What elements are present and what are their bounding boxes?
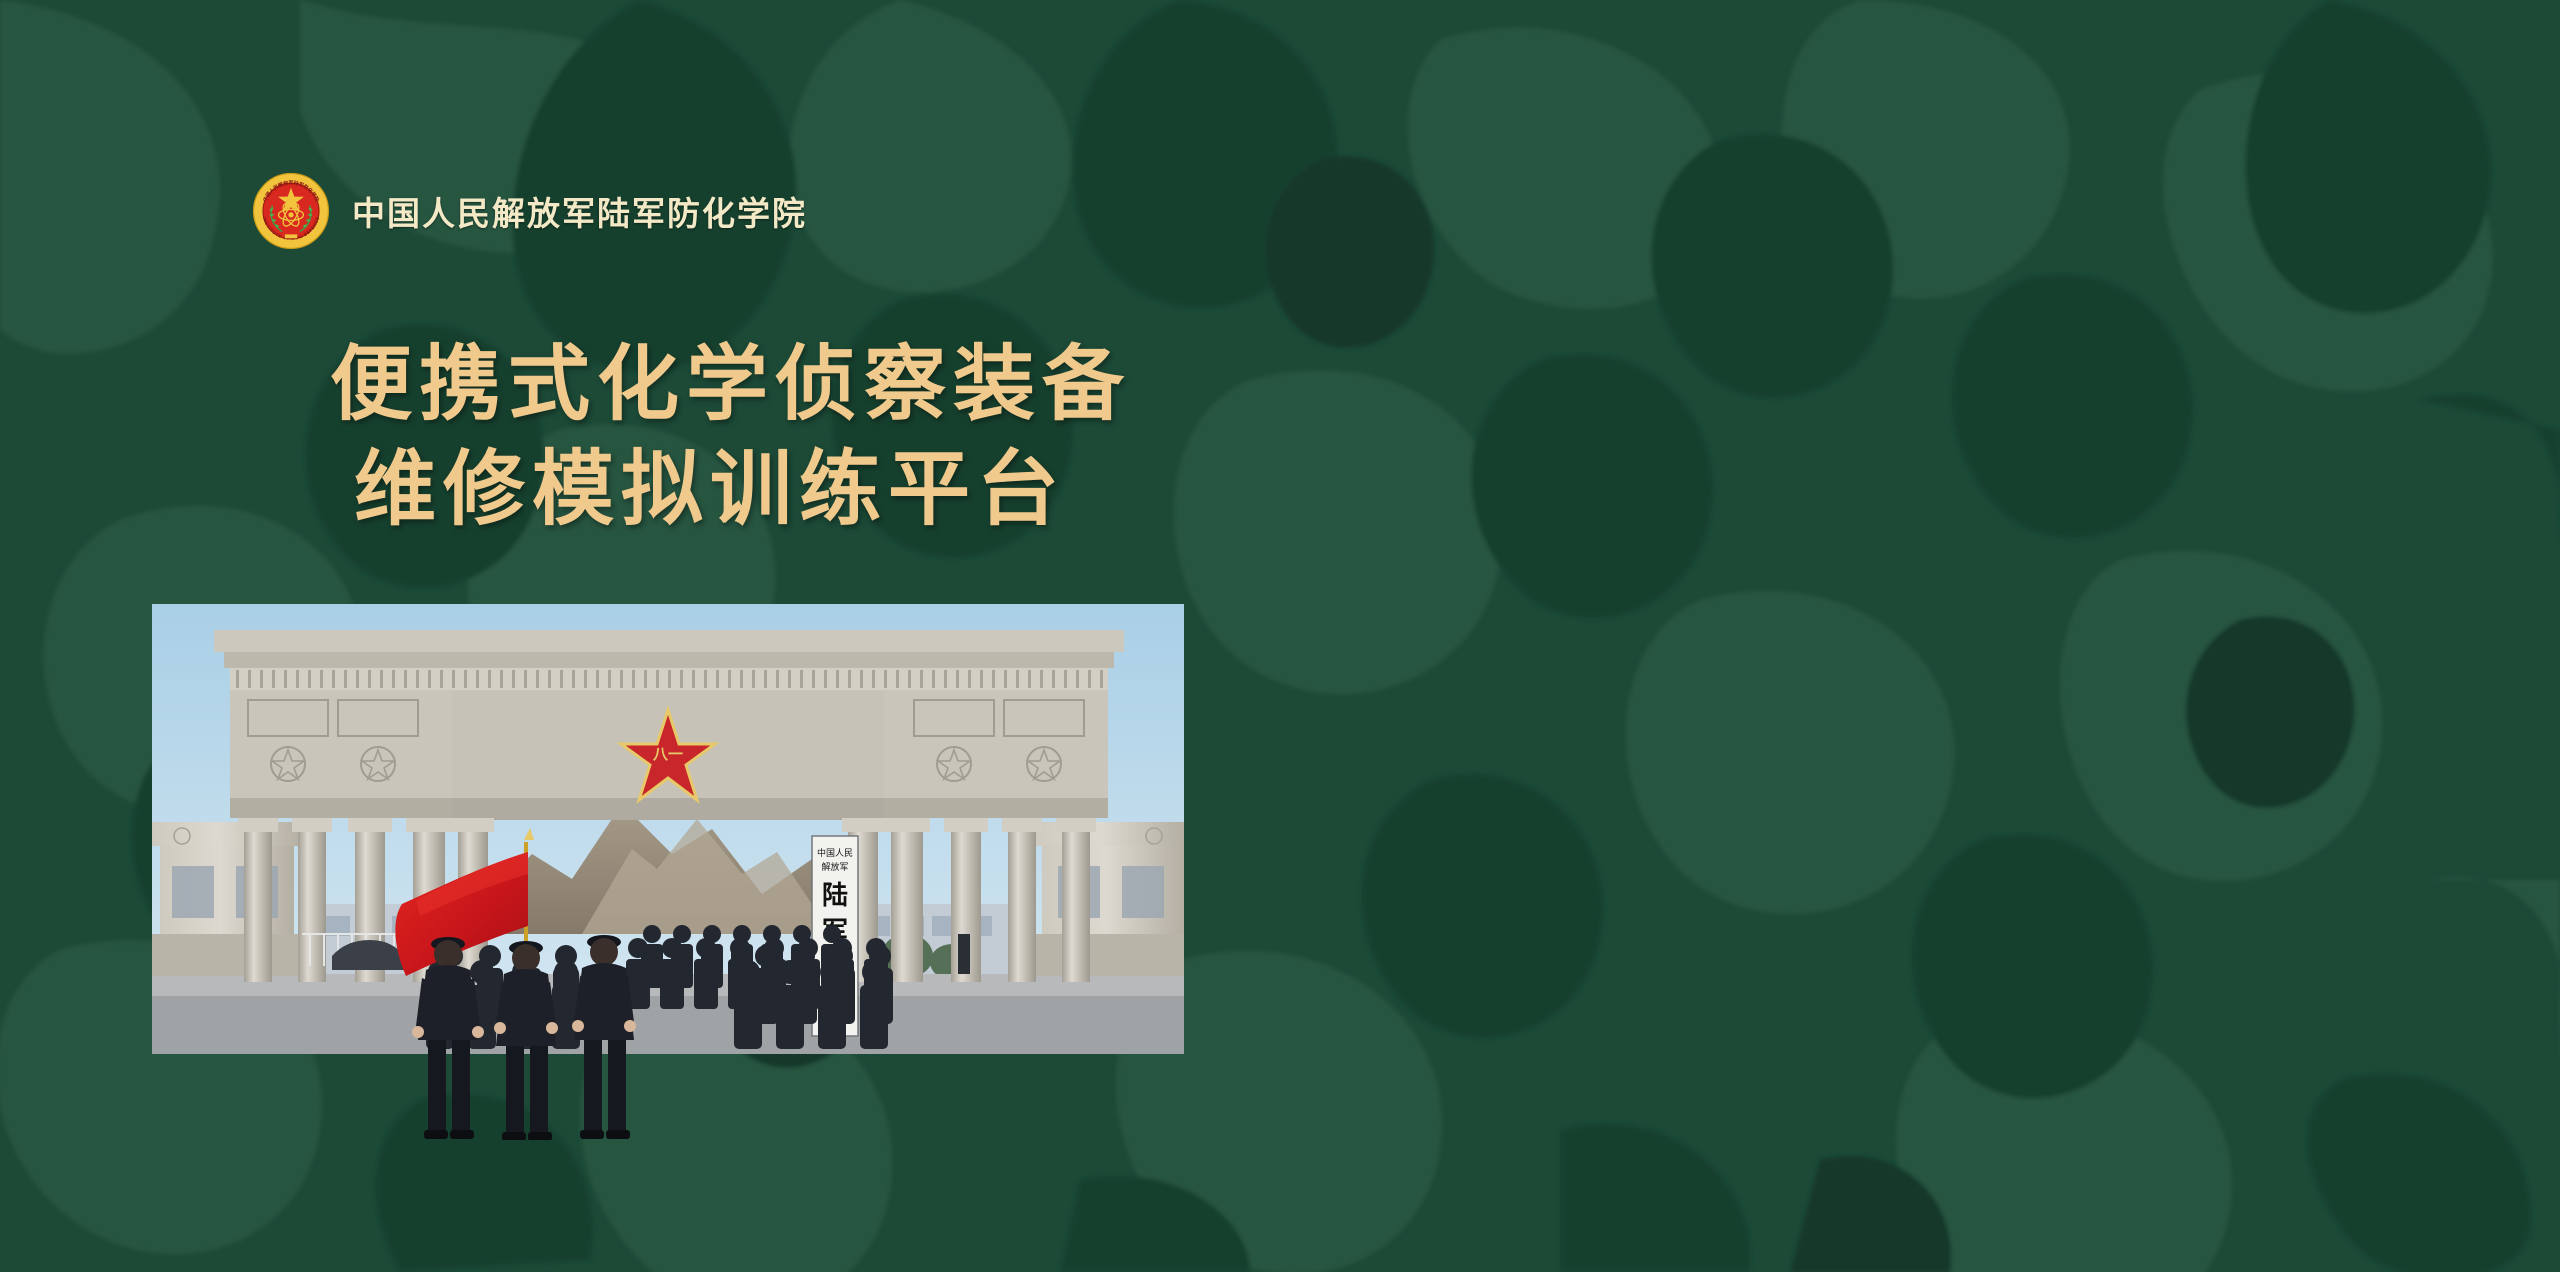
svg-text:中国人民: 中国人民 [817, 847, 853, 859]
svg-text:陆: 陆 [822, 880, 848, 911]
institution-name: 中国人民解放军陆军防化学院 [352, 187, 807, 235]
page-title-line-2: 维修模拟训练平台 [330, 437, 1131, 542]
page-title-line-1: 便携式化学侦察装备 [330, 332, 1131, 437]
academy-emblem-icon: 中国人民解放军陆军防化学院 INSTITUTE OF NBC DEFENSE [252, 172, 330, 250]
academy-gate-photo: 八一 [152, 604, 1184, 1140]
brand-header: 中国人民解放军陆军防化学院 INSTITUTE OF NBC DEFENSE [252, 172, 807, 250]
page-title: 便携式化学侦察装备 维修模拟训练平台 [330, 332, 1131, 542]
svg-text:八一: 八一 [652, 745, 683, 763]
hero-banner: 中国人民解放军陆军防化学院 INSTITUTE OF NBC DEFENSE [0, 0, 2560, 1272]
svg-text:解放军: 解放军 [821, 861, 848, 873]
